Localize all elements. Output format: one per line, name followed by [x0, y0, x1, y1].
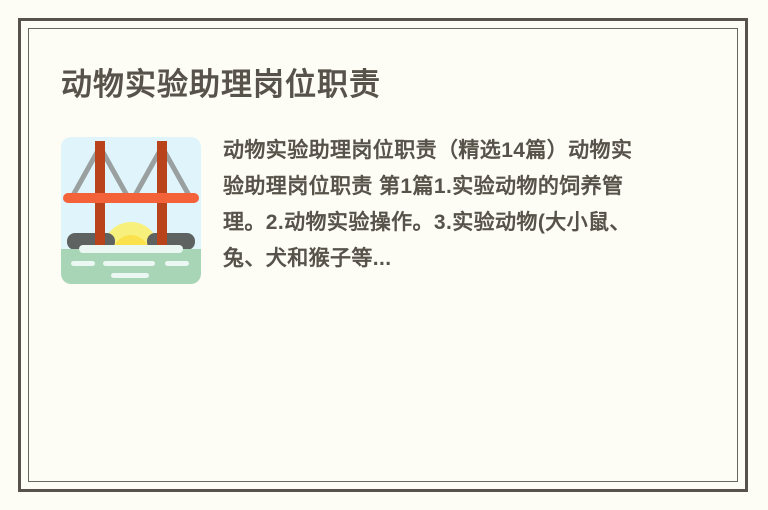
article-card: 动物实验助理岗位职责	[61, 66, 705, 449]
page-frame: 动物实验助理岗位职责	[18, 18, 748, 492]
suspension-bridge-icon	[61, 137, 201, 284]
article-excerpt: 动物实验助理岗位职责（精选14篇）动物实验助理岗位职责 第1篇1.实验动物的饲养…	[223, 133, 648, 277]
article-thumbnail	[61, 137, 201, 284]
page-title: 动物实验助理岗位职责	[61, 66, 705, 105]
article-body: 动物实验助理岗位职责（精选14篇）动物实验助理岗位职责 第1篇1.实验动物的饲养…	[61, 133, 705, 284]
